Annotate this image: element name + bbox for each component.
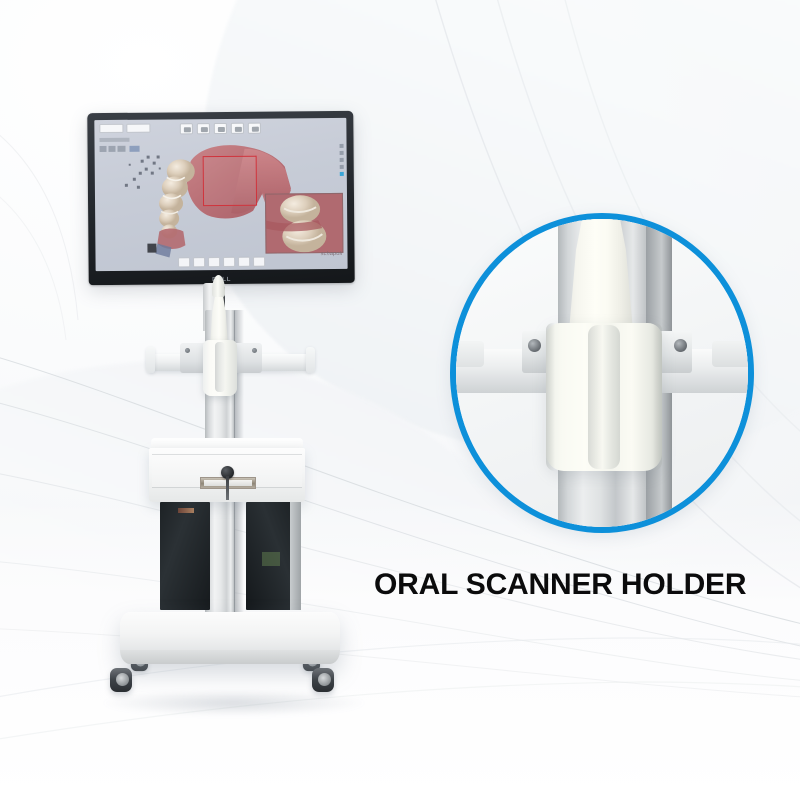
caster-wheel <box>110 664 136 694</box>
detail-cradle-slot <box>588 325 620 469</box>
screen-top-toolbar[interactable] <box>180 123 261 135</box>
selection-rectangle <box>203 156 257 206</box>
screen-label-line <box>99 138 129 142</box>
detail-arm-left-end <box>450 341 484 367</box>
rail-dot-icon[interactable] <box>340 165 344 169</box>
software-watermark: schapoli <box>321 251 343 257</box>
tray-arm-right-end <box>306 347 315 373</box>
capture-tool-icon[interactable] <box>248 123 261 134</box>
rail-dot-icon[interactable] <box>340 151 344 155</box>
pan-tool-icon[interactable] <box>197 123 210 134</box>
pc-tower-side-panel <box>290 502 301 610</box>
detail-arm-right-end <box>712 341 754 367</box>
wheel-hub <box>116 673 129 686</box>
bottom-tool-icon[interactable] <box>223 257 235 267</box>
trim-tool-icon[interactable] <box>231 123 244 134</box>
inset-svg <box>266 194 344 254</box>
bottom-tool-icon[interactable] <box>253 257 265 267</box>
detail-cradle-right-edge <box>653 323 662 471</box>
tray-arm-left-end <box>146 347 155 373</box>
ui-chip[interactable] <box>126 124 150 133</box>
pc-tower <box>160 502 210 610</box>
wheel-hub <box>318 673 331 686</box>
pc-tower-led-icon <box>178 508 194 513</box>
measure-tool-icon[interactable] <box>214 123 227 134</box>
bottom-tool-icon[interactable] <box>208 257 220 267</box>
cradle-center-slot <box>215 342 225 392</box>
screen-right-rail[interactable] <box>340 144 344 176</box>
zoom-inset-panel <box>265 193 344 254</box>
detail-circle-content <box>450 213 754 533</box>
bottom-tool-icon[interactable] <box>238 257 250 267</box>
pc-tower-indicator <box>262 552 280 566</box>
monitor-screen: schapoli <box>94 118 347 271</box>
page-title: ORAL SCANNER HOLDER <box>374 568 746 602</box>
caster-wheel <box>312 664 338 694</box>
base-platform-edge <box>120 650 340 664</box>
bracket-bolt-icon <box>252 348 257 353</box>
bottom-tool-icon[interactable] <box>178 257 190 267</box>
screen-top-left-chips[interactable] <box>99 124 150 133</box>
bracket-bolt-icon <box>185 348 190 353</box>
drawer-key[interactable] <box>226 476 229 500</box>
dental-scan-monitor: schapoli DELL <box>87 111 354 285</box>
detail-bolt-icon <box>528 339 541 352</box>
ui-chip[interactable] <box>99 124 123 133</box>
detail-bolt-icon <box>674 339 687 352</box>
holder-detail-closeup <box>450 213 754 533</box>
screen-label-line-2 <box>100 146 140 152</box>
product-image-canvas: schapoli DELL <box>0 0 800 800</box>
detail-cradle-left-edge <box>546 323 555 471</box>
rail-dot-active-icon[interactable] <box>340 172 344 176</box>
rail-dot-icon[interactable] <box>340 158 344 162</box>
rotate-tool-icon[interactable] <box>180 123 193 134</box>
screen-bottom-toolbar[interactable] <box>178 257 265 268</box>
rail-dot-icon[interactable] <box>340 144 344 148</box>
bottom-tool-icon[interactable] <box>193 257 205 267</box>
